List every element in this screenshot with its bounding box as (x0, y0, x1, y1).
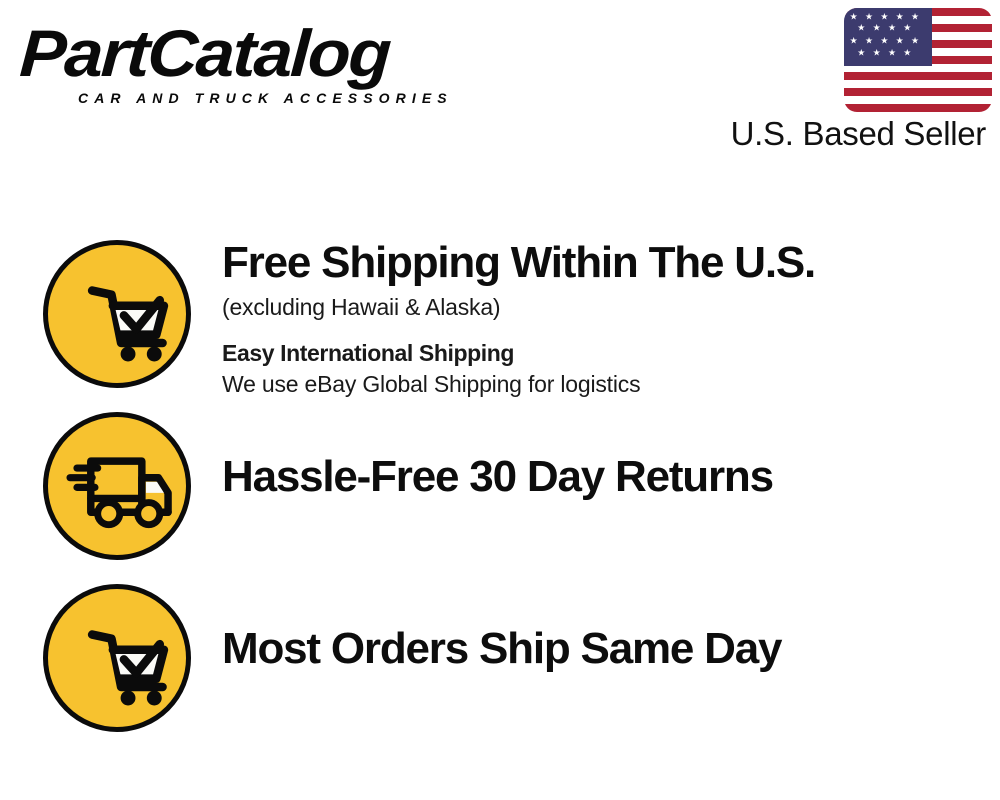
feature-title: Hassle-Free 30 Day Returns (222, 452, 992, 502)
us-based-seller-block: ★ ★ ★ ★ ★ ★ ★ ★ ★ ★ ★ ★ ★ ★ ★ ★ ★ ★ U.S.… (702, 8, 992, 152)
feature-row: Free Shipping Within The U.S. (excluding… (0, 228, 1000, 400)
feature-text-block: Free Shipping Within The U.S. (excluding… (222, 238, 992, 399)
flag-canton: ★ ★ ★ ★ ★ ★ ★ ★ ★ ★ ★ ★ ★ ★ ★ ★ ★ ★ (844, 8, 932, 66)
feature-subnote: We use eBay Global Shipping for logistic… (222, 369, 992, 399)
feature-text-block: Most Orders Ship Same Day (222, 624, 992, 674)
feature-row: Most Orders Ship Same Day (0, 572, 1000, 744)
feature-row: Hassle-Free 30 Day Returns (0, 400, 1000, 572)
promo-banner: PartCatalog CAR AND TRUCK ACCESSORIES ★ … (0, 0, 1000, 800)
us-based-seller-label: U.S. Based Seller (702, 116, 986, 152)
feature-text-block: Hassle-Free 30 Day Returns (222, 452, 992, 502)
brand-logo: PartCatalog CAR AND TRUCK ACCESSORIES (22, 18, 492, 118)
delivery-truck-icon (43, 412, 191, 560)
feature-note: (excluding Hawaii & Alaska) (222, 292, 992, 322)
shopping-cart-check-icon (43, 584, 191, 732)
brand-wordmark: PartCatalog (18, 18, 520, 88)
feature-subtitle: Easy International Shipping (222, 338, 992, 368)
feature-title: Free Shipping Within The U.S. (222, 238, 992, 288)
brand-tagline: CAR AND TRUCK ACCESSORIES (78, 90, 492, 106)
us-flag-icon: ★ ★ ★ ★ ★ ★ ★ ★ ★ ★ ★ ★ ★ ★ ★ ★ ★ ★ (844, 8, 992, 112)
shopping-cart-check-icon (43, 240, 191, 388)
feature-title: Most Orders Ship Same Day (222, 624, 992, 674)
